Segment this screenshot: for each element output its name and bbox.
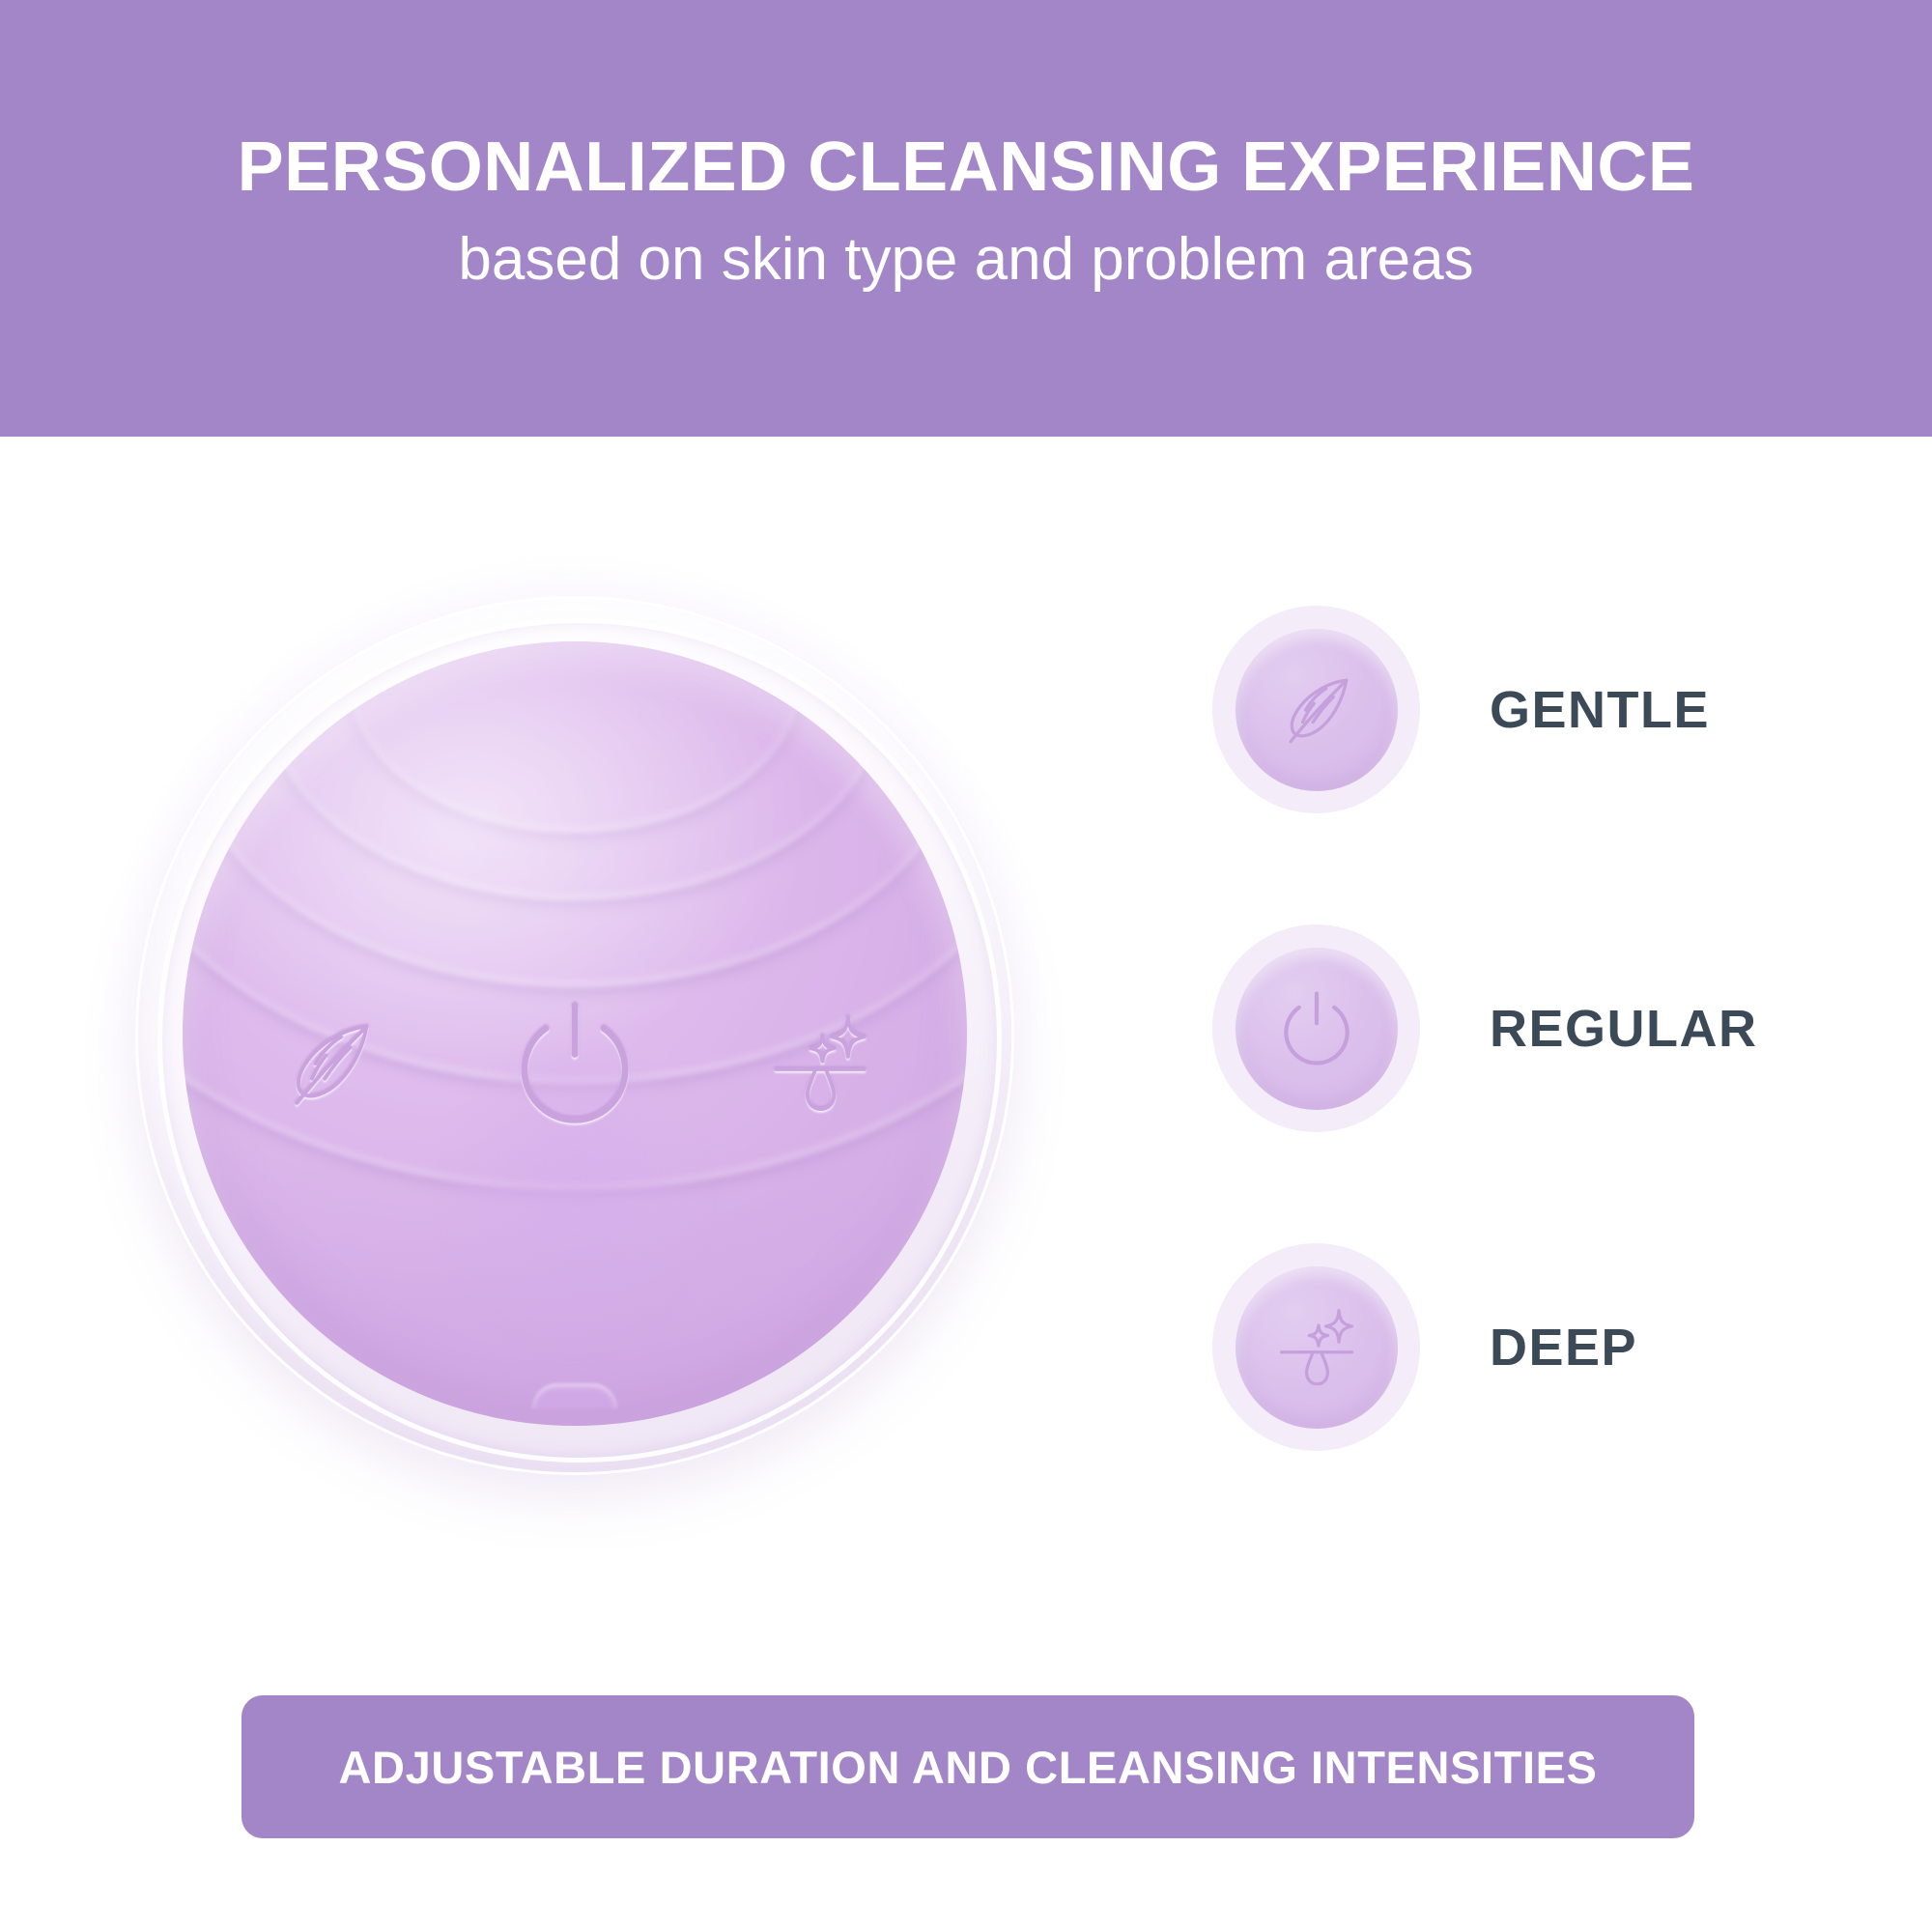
mode-row-regular[interactable]: REGULAR bbox=[1212, 920, 1889, 1137]
cleansing-modes-list: GENTLE REGULAR bbox=[1212, 601, 1889, 1456]
mode-badge-gentle[interactable] bbox=[1212, 606, 1420, 813]
mode-badge-deep[interactable] bbox=[1212, 1243, 1420, 1451]
page-title: PERSONALIZED CLEANSING EXPERIENCE bbox=[238, 131, 1695, 205]
mode-row-gentle[interactable]: GENTLE bbox=[1212, 601, 1889, 818]
mode-label-regular: REGULAR bbox=[1490, 999, 1758, 1059]
mode-badge-inner bbox=[1236, 629, 1398, 791]
mode-badge-inner bbox=[1236, 1266, 1398, 1429]
product-device bbox=[101, 562, 1048, 1509]
power-icon bbox=[1270, 982, 1363, 1075]
device-body bbox=[183, 641, 967, 1426]
device-bottom-nub bbox=[532, 1383, 617, 1408]
header-banner: PERSONALIZED CLEANSING EXPERIENCE based … bbox=[0, 0, 1932, 437]
footer-banner-text: ADJUSTABLE DURATION AND CLEANSING INTENS… bbox=[339, 1741, 1598, 1794]
pore-sparkle-icon bbox=[1270, 1301, 1363, 1394]
power-button-recess bbox=[447, 1057, 703, 1347]
mode-row-deep[interactable]: DEEP bbox=[1212, 1238, 1889, 1456]
mode-label-gentle: GENTLE bbox=[1490, 680, 1710, 740]
feather-icon bbox=[1270, 664, 1363, 756]
mode-label-deep: DEEP bbox=[1490, 1318, 1637, 1378]
mode-badge-inner bbox=[1236, 948, 1398, 1110]
page-subtitle: based on skin type and problem areas bbox=[458, 225, 1473, 294]
mode-badge-regular[interactable] bbox=[1212, 924, 1420, 1132]
footer-banner: ADJUSTABLE DURATION AND CLEANSING INTENS… bbox=[241, 1695, 1694, 1838]
